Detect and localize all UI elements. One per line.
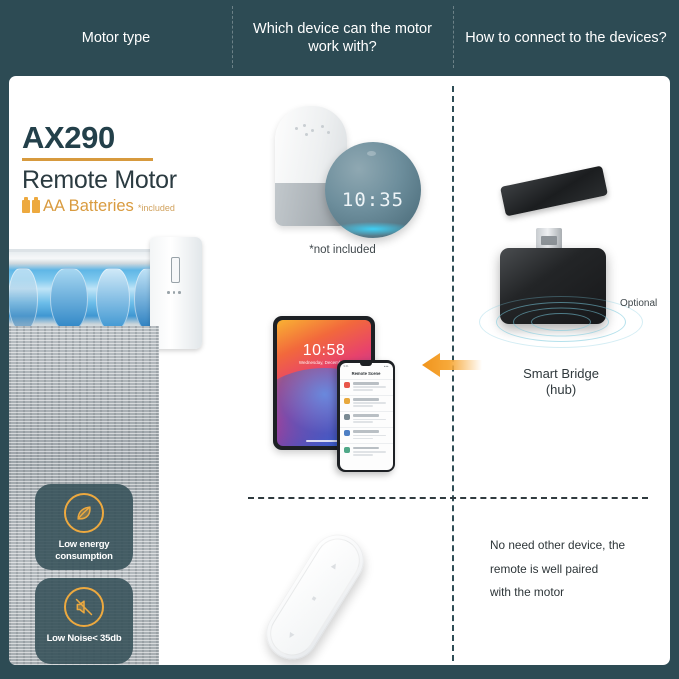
usb-cap xyxy=(500,166,608,217)
round-smart-speaker: 10:35 xyxy=(325,142,421,238)
header-label-connection: How to connect to the devices? xyxy=(465,29,667,47)
header-bar: Motor type Which device can the motor wo… xyxy=(0,0,679,76)
header-column-connection: How to connect to the devices? xyxy=(453,0,679,76)
battery-line: AA Batteries *included xyxy=(22,197,228,216)
feature-badge-low-noise: Low Noise< 35db xyxy=(35,578,133,664)
note-line-1: No need other device, the xyxy=(490,534,665,558)
header-divider-2 xyxy=(453,6,454,68)
phone-device: 9:41●●● Remote Scene xyxy=(337,360,395,472)
header-column-motor-type: Motor type xyxy=(0,0,232,76)
list-item xyxy=(340,379,393,395)
battery-label: AA Batteries xyxy=(43,197,134,216)
optional-label: Optional xyxy=(620,298,657,309)
smart-speaker-image: 10:35 xyxy=(263,102,423,262)
leaf-icon xyxy=(64,493,104,533)
battery-included-note: *included xyxy=(138,203,175,213)
product-title-block: AX290 Remote Motor AA Batteries *include… xyxy=(22,120,228,216)
product-subtitle: Remote Motor xyxy=(22,166,228,195)
phone-app-title: Remote Scene xyxy=(340,369,393,379)
remote-up-button: ▲ xyxy=(328,559,341,572)
smart-bridge-image: Optional xyxy=(474,176,654,366)
list-item xyxy=(340,427,393,443)
header-column-device-compat: Which device can the motor work with? xyxy=(232,0,453,76)
remote-stop-button: ■ xyxy=(310,595,317,603)
left-column: AX290 Remote Motor AA Batteries *include… xyxy=(9,76,233,665)
note-line-2: remote is well paired xyxy=(490,558,665,582)
header-label-motor-type: Motor type xyxy=(82,29,151,47)
hub-caption-line-2: (hub) xyxy=(452,382,670,398)
header-divider-1 xyxy=(232,6,233,68)
list-item xyxy=(340,443,393,459)
title-underline xyxy=(22,158,153,161)
feature-badge-low-energy: Low energy consumption xyxy=(35,484,133,570)
tablet-clock-display: 10:58 xyxy=(277,342,371,360)
remote-control-device: ▲ ■ ▼ xyxy=(256,525,373,665)
feature-badge-label: Low Noise< 35db xyxy=(44,633,125,645)
mute-speaker-icon xyxy=(64,587,104,627)
remote-down-button: ▼ xyxy=(285,629,298,642)
feature-badge-panel: Low energy consumption Low Noise< 35db xyxy=(9,326,159,665)
right-column: Optional Smart Bridge (hub) No need othe… xyxy=(452,76,670,665)
not-included-note: *not included xyxy=(233,244,452,256)
tablet-phone-image: 10:58 Wednesday, December 9 9:41●●● Remo… xyxy=(273,316,423,476)
hub-caption: Smart Bridge (hub) xyxy=(452,366,670,399)
hub-caption-line-1: Smart Bridge xyxy=(452,366,670,382)
note-line-3: with the motor xyxy=(490,581,665,605)
list-item xyxy=(340,395,393,411)
remote-control-image: ▲ ■ ▼ xyxy=(255,512,445,662)
header-label-device-compat: Which device can the motor work with? xyxy=(240,20,445,56)
list-item xyxy=(340,411,393,427)
feature-badge-label: Low energy consumption xyxy=(35,539,133,562)
no-hub-needed-note: No need other device, the remote is well… xyxy=(490,534,665,605)
product-model: AX290 xyxy=(22,120,228,156)
speaker-clock-display: 10:35 xyxy=(325,189,421,211)
battery-icon xyxy=(22,200,40,213)
content-card: AX290 Remote Motor AA Batteries *include… xyxy=(9,76,670,665)
